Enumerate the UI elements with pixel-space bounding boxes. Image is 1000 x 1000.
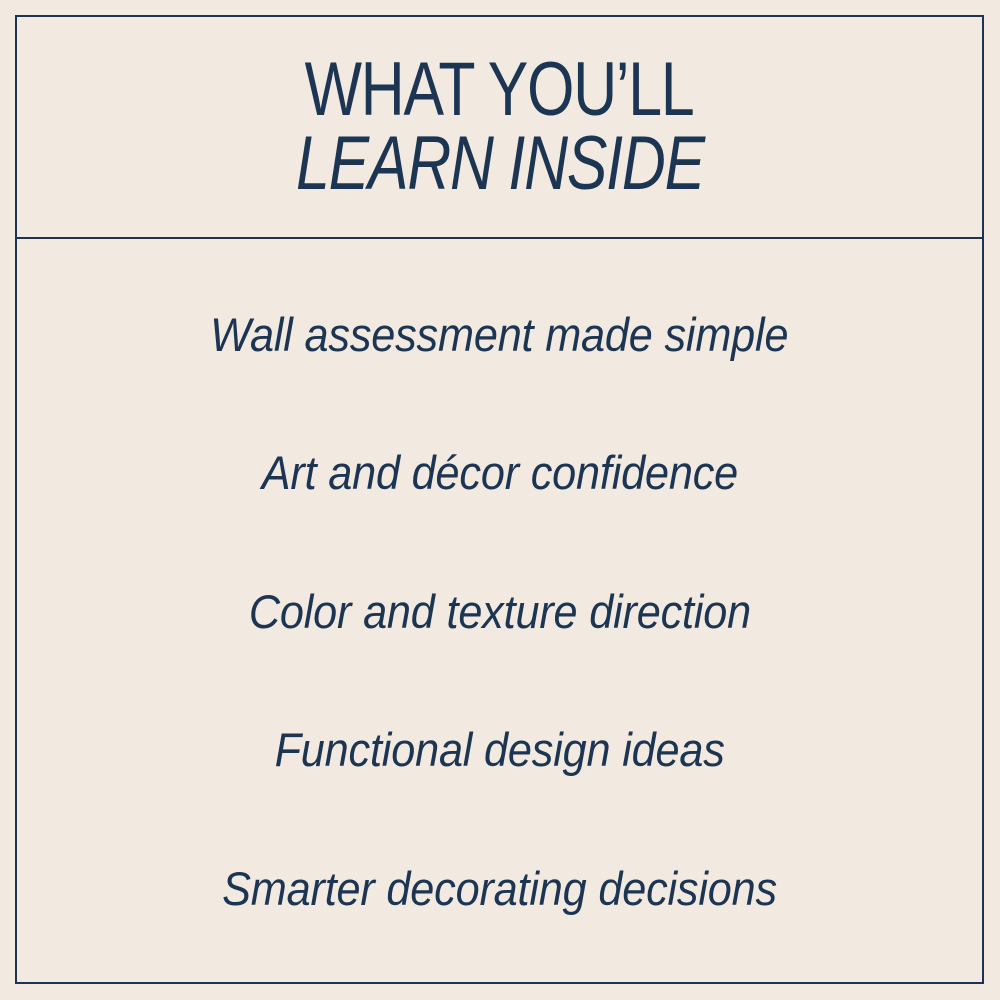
page-title-line-2: LEARN INSIDE [296, 128, 704, 200]
list-item: Functional design ideas [274, 725, 724, 774]
learn-list: Wall assessment made simple Art and déco… [17, 239, 982, 982]
page-title-line-1: WHAT YOU’LL [305, 54, 694, 126]
header-section: WHAT YOU’LL LEARN INSIDE [17, 17, 982, 239]
content-frame: WHAT YOU’LL LEARN INSIDE Wall assessment… [15, 15, 984, 984]
list-item: Color and texture direction [248, 587, 750, 636]
list-item: Wall assessment made simple [210, 310, 788, 359]
poster-canvas: WHAT YOU’LL LEARN INSIDE Wall assessment… [0, 0, 1000, 1000]
list-item: Art and décor confidence [261, 448, 737, 497]
list-item: Smarter decorating decisions [222, 864, 777, 913]
